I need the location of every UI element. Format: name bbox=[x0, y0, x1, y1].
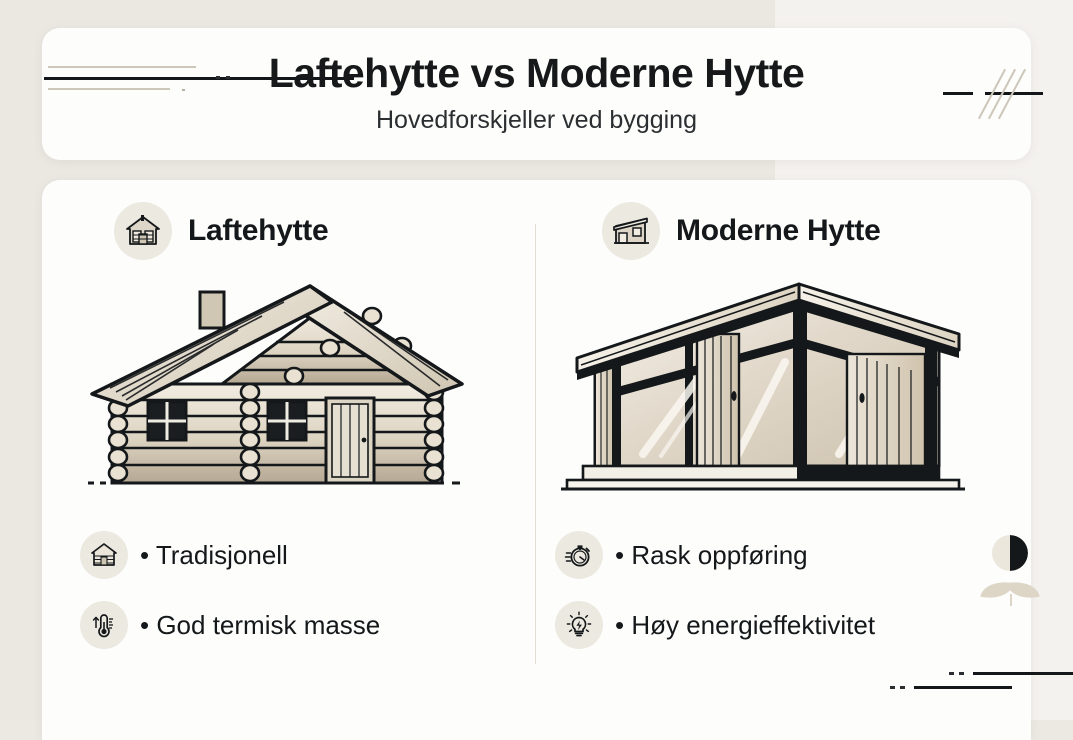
column-header-moderne-hytte: Moderne Hytte bbox=[602, 202, 880, 260]
two-leaf-decoration-icon bbox=[982, 578, 1040, 612]
column-title: Moderne Hytte bbox=[676, 214, 880, 248]
infographic-page: Laftehytte vs Moderne Hytte Hovedforskje… bbox=[0, 0, 1073, 720]
thermometer-icon bbox=[80, 601, 128, 649]
list-item-label: • Tradisjonell bbox=[140, 540, 288, 571]
bullet-list-moderne-hytte: • Rask oppføring bbox=[555, 520, 1005, 660]
column-moderne-hytte: Moderne Hytte bbox=[547, 180, 1007, 740]
page-subtitle: Hovedforskjeller ved bygging bbox=[42, 106, 1031, 135]
list-item-label: • Rask oppføring bbox=[615, 540, 808, 571]
column-divider bbox=[535, 224, 536, 664]
column-laftehytte: Laftehytte bbox=[72, 180, 532, 740]
column-title: Laftehytte bbox=[188, 214, 328, 248]
half-filled-circle-decoration-icon bbox=[992, 535, 1028, 571]
header-card: Laftehytte vs Moderne Hytte Hovedforskje… bbox=[42, 28, 1031, 160]
column-header-laftehytte: Laftehytte bbox=[114, 202, 328, 260]
log-cabin-icon bbox=[80, 531, 128, 579]
horizontal-lines-decoration-icon bbox=[860, 660, 1073, 710]
list-item-label: • God termisk masse bbox=[140, 610, 380, 641]
page-title: Laftehytte vs Moderne Hytte bbox=[42, 50, 1031, 97]
modern-cabin-illustration bbox=[547, 276, 1007, 501]
comparison-card: Laftehytte bbox=[42, 180, 1031, 740]
list-item[interactable]: • Rask oppføring bbox=[555, 520, 1005, 590]
log-cabin-illustration bbox=[72, 276, 532, 501]
stopwatch-icon bbox=[555, 531, 603, 579]
list-item[interactable]: • God termisk masse bbox=[80, 590, 530, 660]
modern-house-icon bbox=[602, 202, 660, 260]
log-cabin-icon bbox=[114, 202, 172, 260]
slash-lines-decoration-icon bbox=[933, 68, 1043, 120]
lightbulb-bolt-icon bbox=[555, 601, 603, 649]
list-item[interactable]: • Høy energieffektivitet bbox=[555, 590, 1005, 660]
list-item[interactable]: • Tradisjonell bbox=[80, 520, 530, 590]
bullet-list-laftehytte: • Tradisjonell bbox=[80, 520, 530, 660]
list-item-label: • Høy energieffektivitet bbox=[615, 610, 875, 641]
